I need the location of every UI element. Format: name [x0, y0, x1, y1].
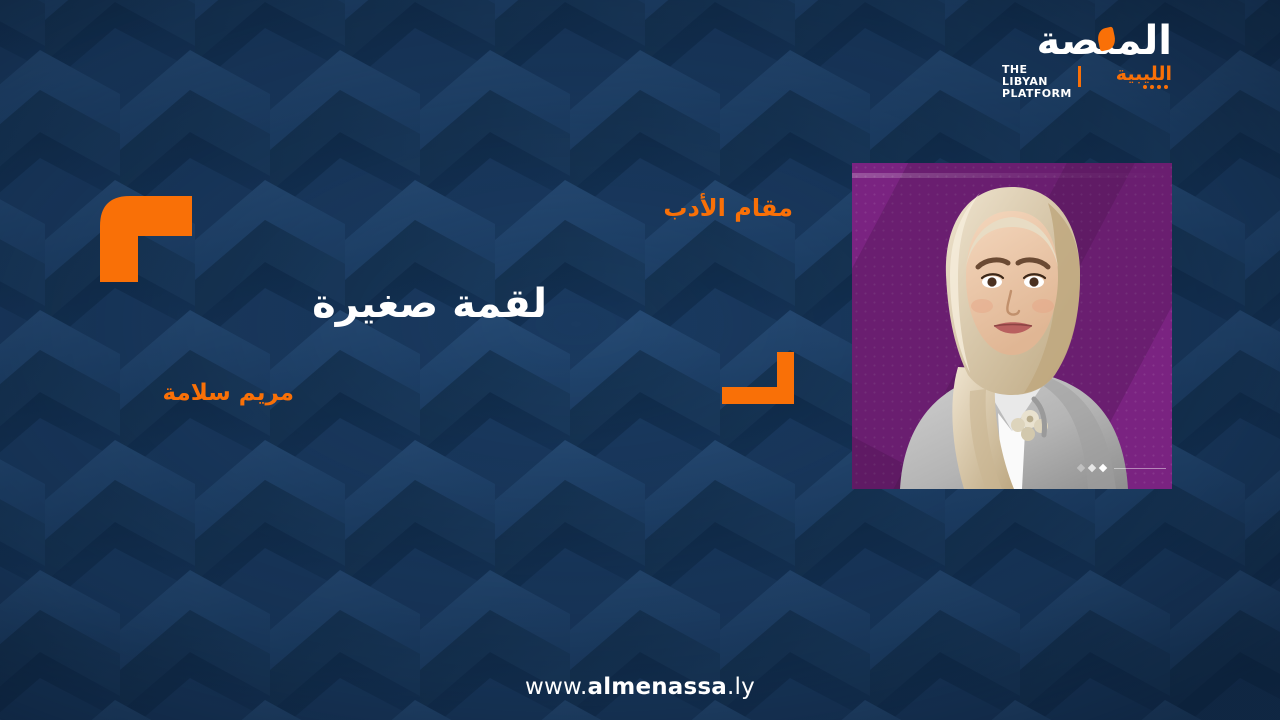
logo-subtitle-arabic: الليبية — [1116, 62, 1172, 86]
url-name: almenassa — [587, 674, 727, 700]
logo-subtitle-english: THE LIBYAN PLATFORM — [1002, 64, 1074, 100]
page-title: لقمة صغيرة — [312, 278, 547, 330]
logo-subtitle-english-line1: THE LIBYAN — [1002, 64, 1074, 88]
avatar — [852, 163, 1172, 489]
social-media-card: المنصة الليبية THE LIBYAN PLATFORM مقام … — [0, 0, 1280, 720]
author-name: مريم سلامة — [163, 377, 295, 409]
logo-wordmark: المنصة — [1002, 24, 1172, 64]
portrait-accent-line — [1114, 468, 1166, 469]
category-kicker: مقام الأدب — [663, 191, 793, 225]
closing-quote-icon — [722, 352, 794, 404]
opening-quote-icon — [100, 196, 192, 282]
portrait-diamond-markers — [1078, 465, 1106, 471]
website-url[interactable]: www.almenassa.ly — [0, 672, 1280, 702]
logo-divider — [1078, 66, 1081, 87]
url-prefix: www. — [525, 674, 587, 700]
url-suffix: .ly — [727, 674, 755, 700]
author-portrait-panel — [852, 163, 1172, 489]
brand-logo[interactable]: المنصة الليبية THE LIBYAN PLATFORM — [1002, 24, 1172, 90]
logo-dots-icon — [1143, 85, 1168, 89]
logo-subtitle: الليبية THE LIBYAN PLATFORM — [1002, 64, 1172, 90]
logo-subtitle-english-line2: PLATFORM — [1002, 88, 1074, 100]
